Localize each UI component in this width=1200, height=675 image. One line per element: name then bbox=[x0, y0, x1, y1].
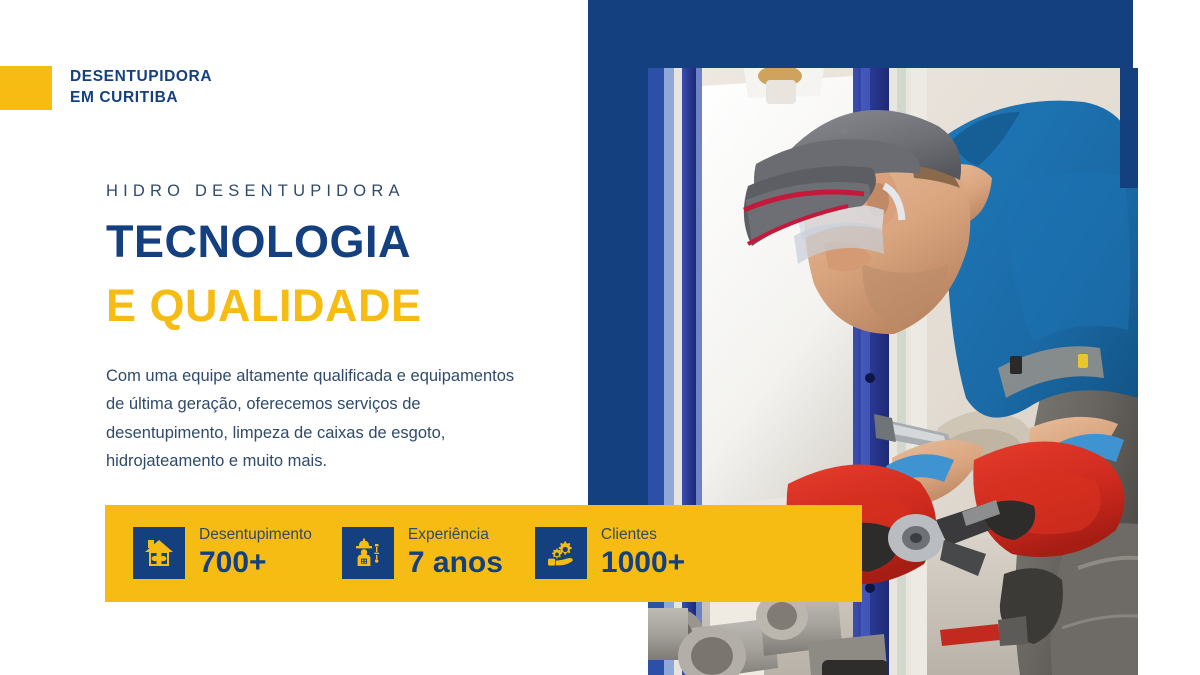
logo[interactable]: DESENTUPIDORA EM CURITIBA bbox=[0, 66, 212, 110]
stat-item-desentupimento: Desentupimento 700+ bbox=[133, 526, 312, 581]
logo-text: DESENTUPIDORA EM CURITIBA bbox=[70, 67, 212, 109]
stat-value: 7 anos bbox=[408, 546, 503, 581]
stat-value: 1000+ bbox=[601, 546, 685, 581]
hero-title-line-2: E QUALIDADE bbox=[106, 281, 576, 331]
hero-paragraph: Com uma equipe altamente qualificada e e… bbox=[106, 362, 536, 476]
stat-label: Clientes bbox=[601, 526, 685, 543]
stat-label: Desentupimento bbox=[199, 526, 312, 543]
stat-text-experiencia: Experiência 7 anos bbox=[408, 526, 503, 581]
stat-text-desentupimento: Desentupimento 700+ bbox=[199, 526, 312, 581]
promotional-banner: DESENTUPIDORA EM CURITIBA HIDRO DESENTUP… bbox=[0, 0, 1200, 675]
stat-label: Experiência bbox=[408, 526, 503, 543]
hero-title-line-1: TECNOLOGIA bbox=[106, 217, 576, 267]
stat-value: 700+ bbox=[199, 546, 312, 581]
logo-line-1: DESENTUPIDORA bbox=[70, 67, 212, 88]
stat-text-clientes: Clientes 1000+ bbox=[601, 526, 685, 581]
house-drain-icon bbox=[133, 527, 185, 579]
worker-helmet-icon bbox=[342, 527, 394, 579]
stat-item-clientes: Clientes 1000+ bbox=[535, 526, 685, 581]
hand-gears-icon bbox=[535, 527, 587, 579]
logo-mark-icon bbox=[0, 66, 52, 110]
hero-eyebrow: HIDRO DESENTUPIDORA bbox=[106, 182, 576, 201]
stat-item-experiencia: Experiência 7 anos bbox=[342, 526, 503, 581]
hero-text-block: HIDRO DESENTUPIDORA TECNOLOGIA E QUALIDA… bbox=[106, 182, 576, 475]
stats-bar: Desentupimento 700+ bbox=[105, 505, 862, 602]
logo-line-2: EM CURITIBA bbox=[70, 88, 212, 109]
